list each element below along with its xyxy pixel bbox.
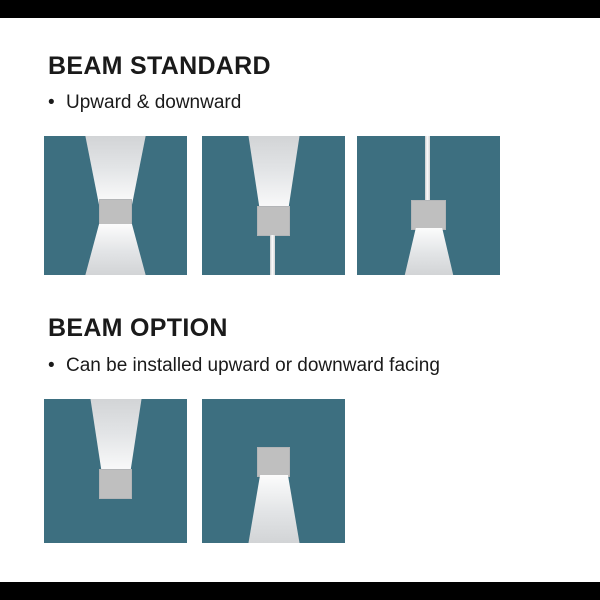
light-cone-upward: [216, 136, 332, 212]
bullet-marker-icon: •: [48, 355, 66, 377]
diagram-tile-beam-down-suspended: [357, 136, 500, 275]
slide-frame: BEAM STANDARD •Upward & downward BEAM OP…: [0, 0, 600, 600]
slide-canvas: BEAM STANDARD •Upward & downward BEAM OP…: [0, 18, 600, 582]
diagram-tile-beam-up-with-pole: [202, 136, 345, 275]
light-cone-downward: [216, 475, 332, 543]
section-heading-beam-option: BEAM OPTION: [48, 314, 228, 343]
bullet-marker-icon: •: [48, 92, 66, 114]
light-cone-upward: [58, 399, 174, 475]
section-bullet-beam-standard: •Upward & downward: [48, 92, 241, 114]
section-bullet-text: Upward & downward: [66, 92, 241, 113]
section-bullet-text: Can be installed upward or downward faci…: [66, 355, 440, 376]
fixture-housing: [257, 447, 290, 477]
mounting-pole: [270, 235, 275, 275]
diagram-tile-beam-up-and-down: [44, 136, 187, 275]
fixture-housing: [99, 469, 132, 499]
fixture-housing: [411, 200, 446, 230]
section-bullet-beam-option: •Can be installed upward or downward fac…: [48, 355, 440, 377]
diagram-tile-beam-downward-facing: [202, 399, 345, 543]
section-heading-beam-standard: BEAM STANDARD: [48, 52, 271, 81]
light-cone-upward: [47, 136, 184, 205]
light-cone-downward: [47, 224, 184, 275]
diagram-tile-beam-upward-facing: [44, 399, 187, 543]
light-cone-downward: [374, 228, 484, 275]
suspension-rod: [425, 136, 430, 201]
fixture-housing: [257, 206, 290, 236]
